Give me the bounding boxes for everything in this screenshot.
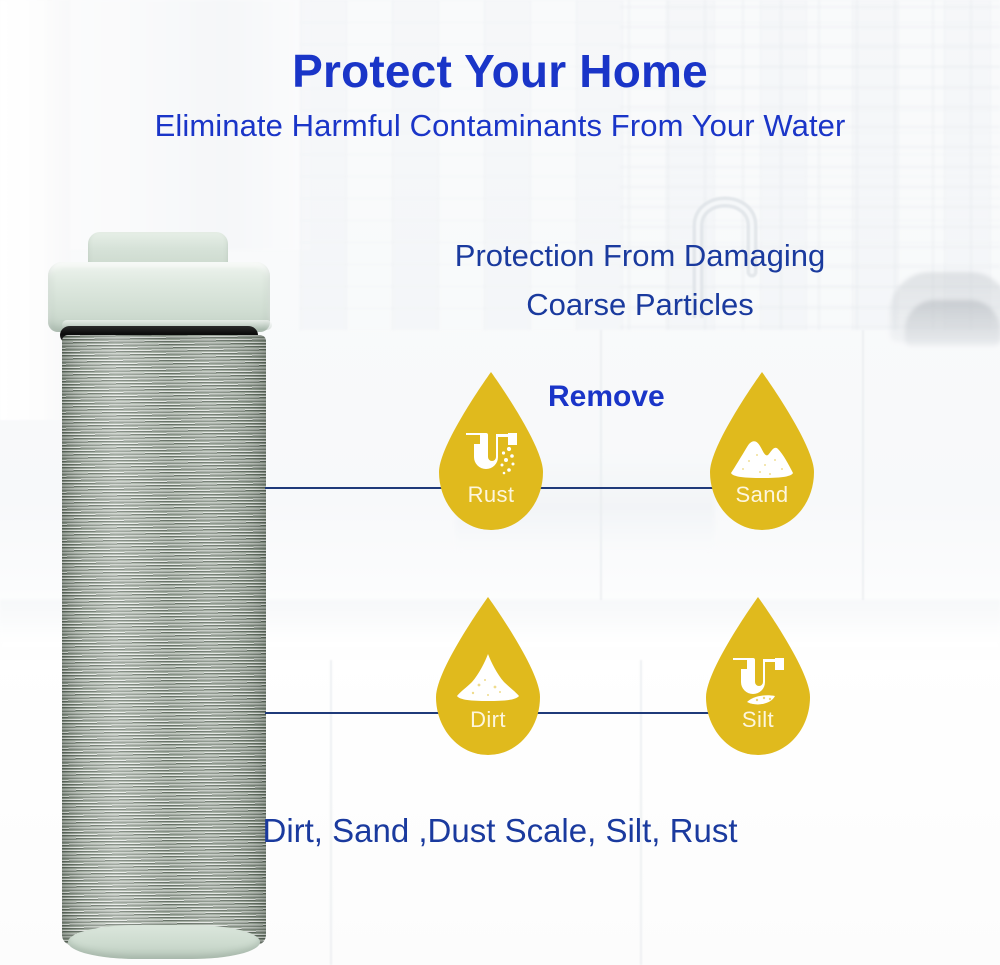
page-title: Protect Your Home [0, 44, 1000, 98]
filter-product-image [40, 232, 280, 965]
droplet-label: Dirt [430, 707, 546, 733]
connector-line-filter-to-dirt [265, 712, 460, 714]
u-trap-pipe-icon [727, 652, 789, 714]
filter-cap-flange [48, 262, 270, 332]
filter-base-cap [68, 925, 260, 959]
filter-mesh-screen [62, 335, 266, 945]
page-subtitle: Eliminate Harmful Contaminants From Your… [0, 108, 1000, 144]
droplet-label: Rust [433, 482, 549, 508]
droplet-label: Sand [704, 482, 820, 508]
promo-image: Rust Sand Dirt [0, 0, 1000, 965]
sand-pile-icon [729, 427, 795, 479]
connector-line-filter-to-rust [265, 487, 465, 489]
remove-heading: Remove [548, 380, 665, 414]
connector-line-rust-to-sand [530, 487, 735, 489]
connector-line-dirt-to-silt [527, 712, 732, 714]
dirt-mound-icon [455, 652, 521, 702]
droplet-label: Silt [700, 707, 816, 733]
benefit-line-2: Coarse Particles [330, 287, 950, 323]
benefit-line-1: Protection From Damaging [330, 238, 950, 274]
u-trap-pipe-icon [460, 427, 522, 489]
contaminants-caption: Dirt, Sand ,Dust Scale, Silt, Rust [0, 812, 1000, 850]
